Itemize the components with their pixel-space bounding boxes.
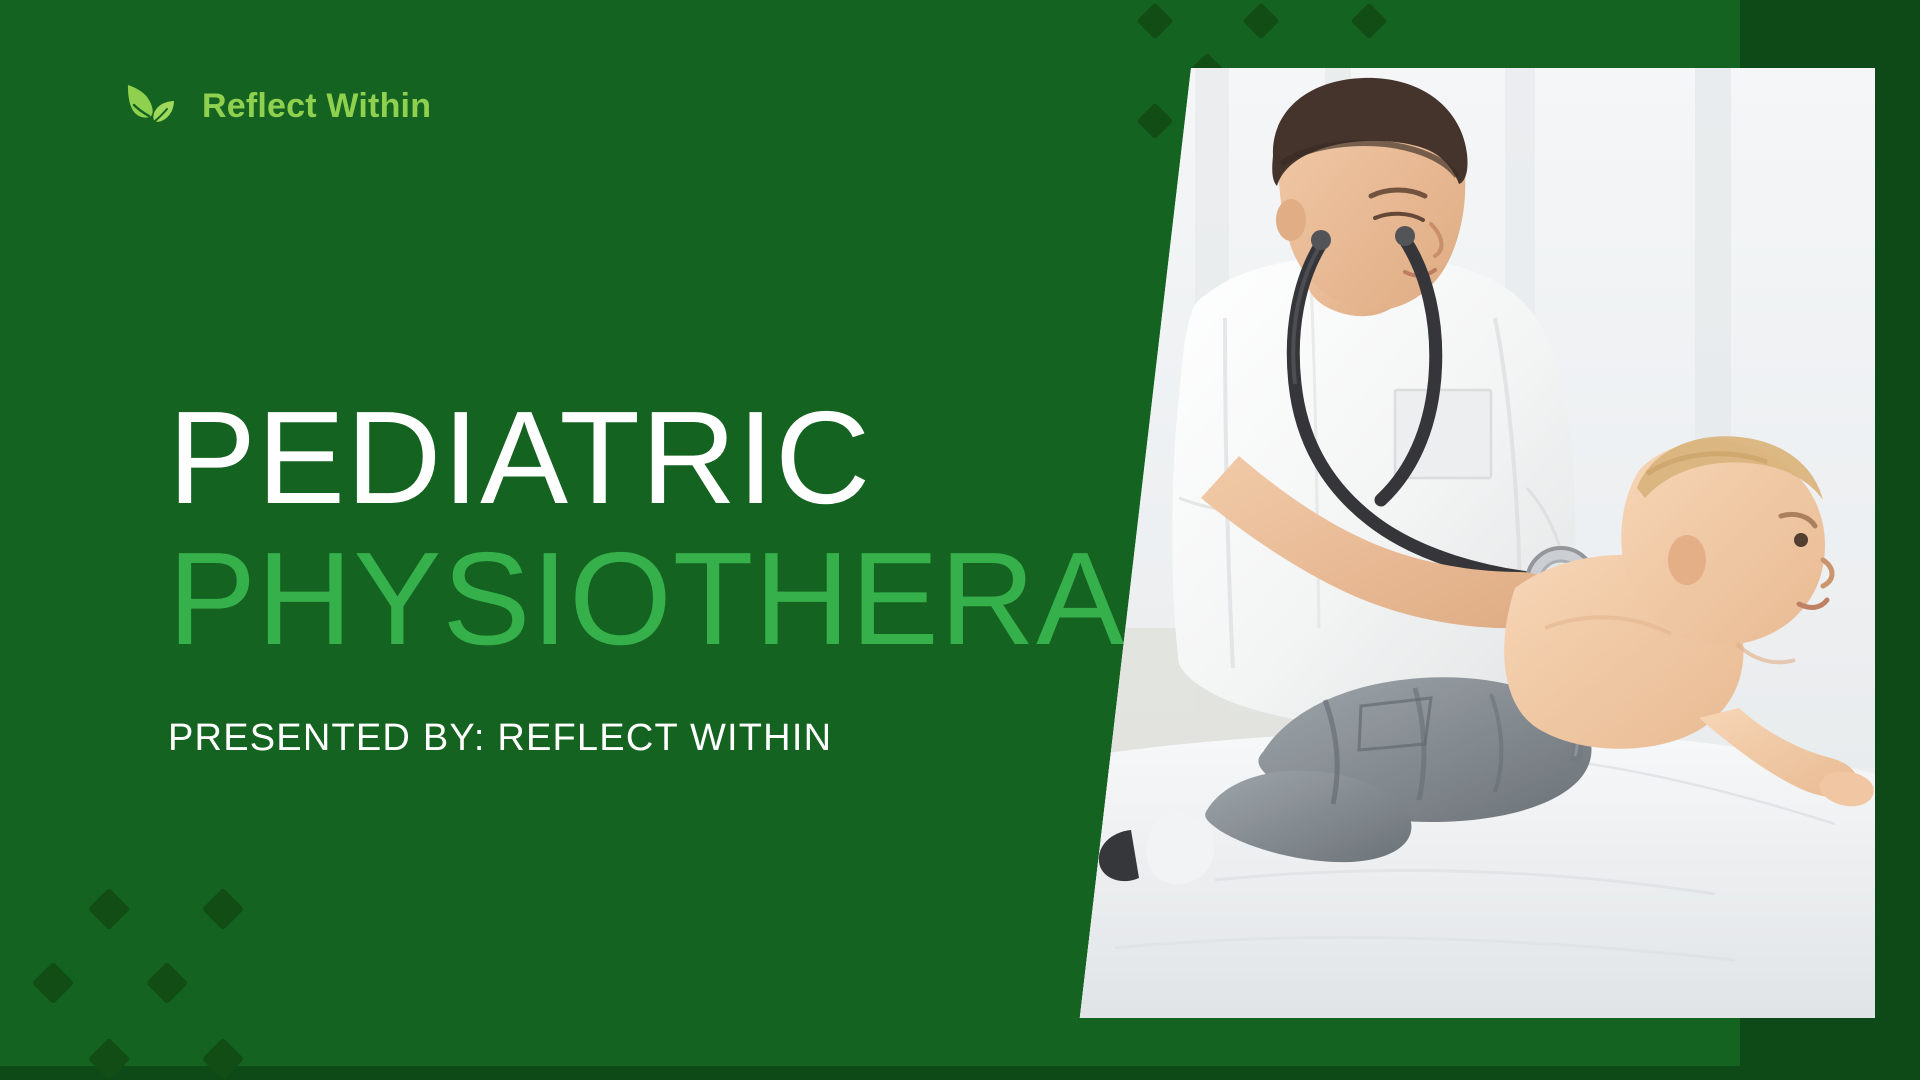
hero-photo	[1075, 68, 1875, 1018]
presenter-credit: PRESENTED BY: REFLECT WITHIN	[168, 717, 1228, 760]
hero-photo-image	[1075, 68, 1875, 1018]
presentation-slide: Reflect Within PEDIATRIC PHYSIOTHERAPY P…	[0, 0, 1920, 1080]
leaf-icon	[124, 83, 176, 129]
brand-name: Reflect Within	[202, 87, 431, 126]
brand-logo: Reflect Within	[124, 78, 431, 134]
headline-block: PEDIATRIC PHYSIOTHERAPY PRESENTED BY: RE…	[168, 392, 1228, 760]
page-title-line1: PEDIATRIC	[168, 392, 1228, 524]
bottom-accent-strip	[0, 1066, 1920, 1080]
page-title-line2: PHYSIOTHERAPY	[168, 530, 1228, 669]
